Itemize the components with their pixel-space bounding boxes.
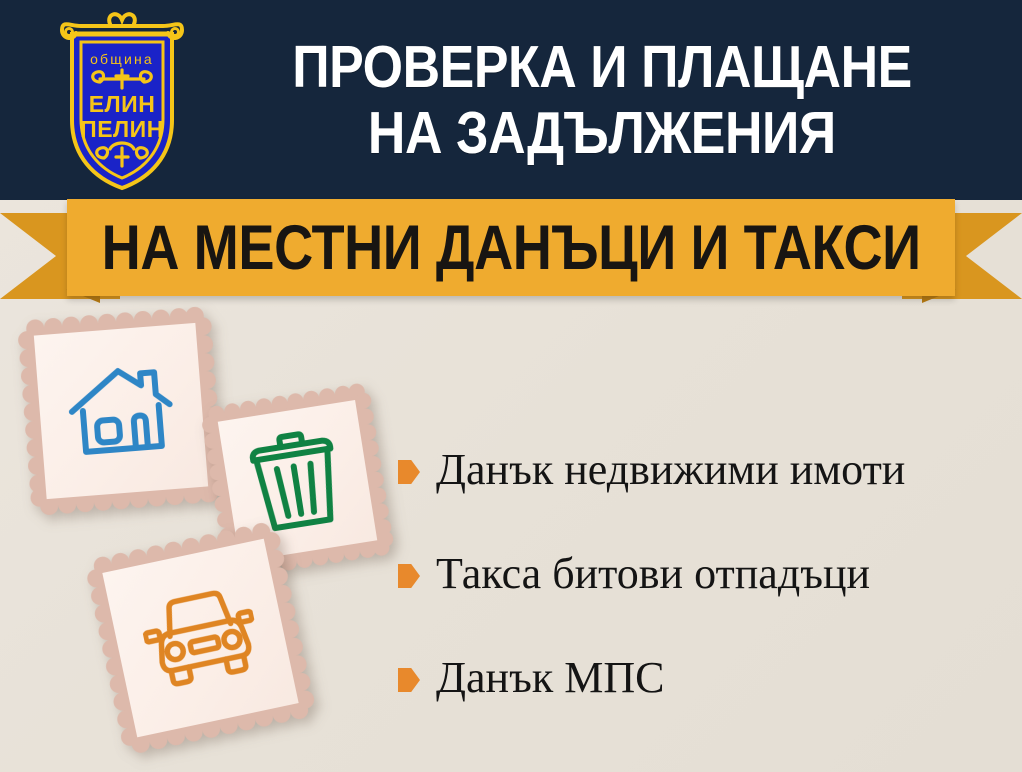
stamp-paper: [102, 539, 298, 738]
trash-bin-icon: [246, 426, 348, 537]
svg-text:ЕЛИН: ЕЛИН: [89, 91, 156, 117]
house-icon: [63, 359, 178, 463]
list-item[interactable]: Данък МПС: [398, 626, 1012, 730]
svg-text:община: община: [90, 51, 154, 67]
poster-title: ПРОВЕРКА И ПЛАЩАНЕ НА ЗАДЪЛЖЕНИЯ: [196, 20, 1008, 180]
list-item[interactable]: Данък недвижими имоти: [398, 418, 1012, 522]
arrow-bullet-icon: [398, 460, 420, 484]
ribbon-label: НА МЕСТНИ ДАНЪЦИ И ТАКСИ: [101, 212, 920, 284]
subtitle-ribbon: НА МЕСТНИ ДАНЪЦИ И ТАКСИ: [0, 199, 1022, 309]
stamp-card-vehicle: [83, 520, 317, 757]
svg-text:ПЕЛИН: ПЕЛИН: [80, 116, 164, 142]
list-item[interactable]: Такса битови отпадъци: [398, 522, 1012, 626]
tax-types-list: Данък недвижими имоти Такса битови отпад…: [398, 418, 1012, 730]
arrow-bullet-icon: [398, 564, 420, 588]
list-item-label: Данък недвижими имоти: [436, 447, 905, 493]
ribbon-banner: НА МЕСТНИ ДАНЪЦИ И ТАКСИ: [67, 199, 955, 296]
arrow-bullet-icon: [398, 668, 420, 692]
list-item-label: Такса битови отпадъци: [436, 551, 870, 597]
poster-canvas: община ЕЛИН ПЕЛИН ПРОВЕ: [0, 0, 1022, 772]
stamp-paper: [34, 323, 208, 499]
title-line-2: НА ЗАДЪЛЖЕНИЯ: [368, 100, 836, 166]
stamp-card-property: [17, 306, 226, 517]
title-line-1: ПРОВЕРКА И ПЛАЩАНЕ: [292, 34, 912, 100]
municipality-emblem-icon: община ЕЛИН ПЕЛИН: [48, 8, 196, 193]
list-item-label: Данък МПС: [436, 655, 664, 701]
car-icon: [136, 581, 265, 694]
